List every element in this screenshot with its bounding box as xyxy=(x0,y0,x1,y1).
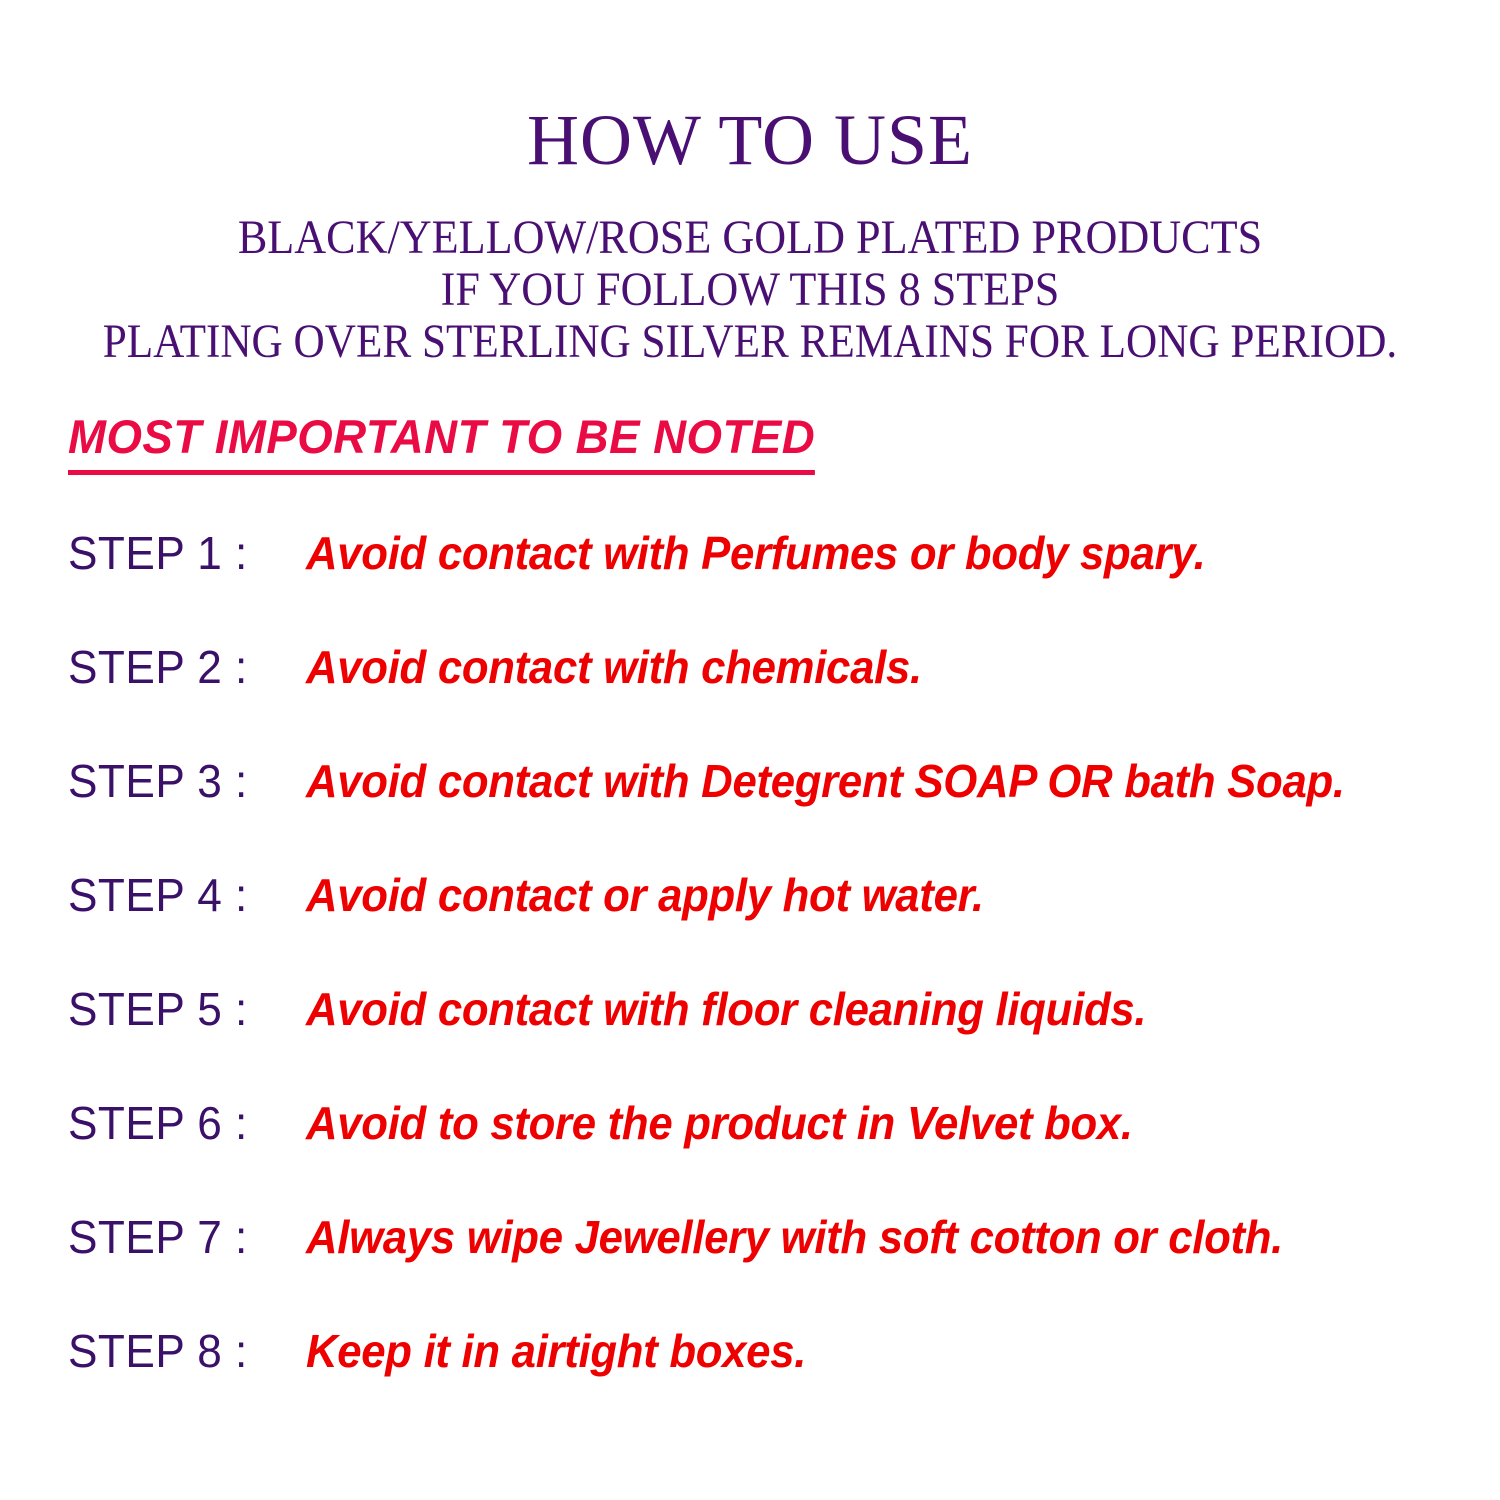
page-title: HOW TO USE xyxy=(0,0,1500,176)
step-text: Avoid to store the product in Velvet box… xyxy=(306,1094,1133,1152)
list-item: STEP 1 : Avoid contact with Perfumes or … xyxy=(68,524,1468,638)
step-label: STEP 2 : xyxy=(68,638,296,696)
step-text: Avoid contact with Perfumes or body spar… xyxy=(306,524,1205,582)
subtitle-line-1: BLACK/YELLOW/ROSE GOLD PLATED PRODUCTS xyxy=(60,212,1440,264)
notice-heading: MOST IMPORTANT TO BE NOTED xyxy=(68,409,838,475)
step-text: Avoid contact or apply hot water. xyxy=(306,866,984,924)
list-item: STEP 6 : Avoid to store the product in V… xyxy=(68,1094,1468,1208)
step-label: STEP 6 : xyxy=(68,1094,296,1152)
list-item: STEP 8 : Keep it in airtight boxes. xyxy=(68,1322,1468,1436)
list-item: STEP 5 : Avoid contact with floor cleani… xyxy=(68,980,1468,1094)
step-label: STEP 8 : xyxy=(68,1322,296,1380)
subtitle-block: BLACK/YELLOW/ROSE GOLD PLATED PRODUCTS I… xyxy=(0,176,1500,368)
step-text: Always wipe Jewellery with soft cotton o… xyxy=(306,1208,1283,1266)
step-text: Avoid contact with chemicals. xyxy=(306,638,922,696)
subtitle-line-3: PLATING OVER STERLING SILVER REMAINS FOR… xyxy=(75,316,1425,368)
list-item: STEP 3 : Avoid contact with Detegrent SO… xyxy=(68,752,1468,866)
step-label: STEP 7 : xyxy=(68,1208,296,1266)
list-item: STEP 4 : Avoid contact or apply hot wate… xyxy=(68,866,1468,980)
step-label: STEP 5 : xyxy=(68,980,296,1038)
step-label: STEP 3 : xyxy=(68,752,296,810)
step-label: STEP 1 : xyxy=(68,524,296,582)
list-item: STEP 2 : Avoid contact with chemicals. xyxy=(68,638,1468,752)
step-label: STEP 4 : xyxy=(68,866,296,924)
subtitle-line-2: IF YOU FOLLOW THIS 8 STEPS xyxy=(60,264,1440,316)
steps-list: STEP 1 : Avoid contact with Perfumes or … xyxy=(68,524,1468,1436)
step-text: Avoid contact with floor cleaning liquid… xyxy=(306,980,1146,1038)
list-item: STEP 7 : Always wipe Jewellery with soft… xyxy=(68,1208,1468,1322)
step-text: Avoid contact with Detegrent SOAP OR bat… xyxy=(306,752,1345,810)
step-text: Keep it in airtight boxes. xyxy=(306,1322,806,1380)
header-block: HOW TO USE BLACK/YELLOW/ROSE GOLD PLATED… xyxy=(0,0,1500,368)
notice-heading-label: MOST IMPORTANT TO BE NOTED xyxy=(68,409,815,475)
instruction-card: HOW TO USE BLACK/YELLOW/ROSE GOLD PLATED… xyxy=(0,0,1500,1500)
